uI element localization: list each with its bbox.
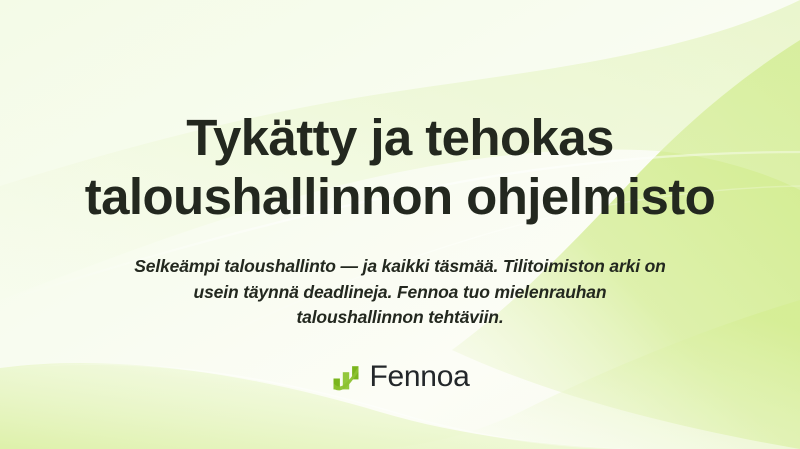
promo-slide: Tykätty ja tehokas taloushallinnon ohjel… [0, 0, 800, 449]
logo-lockup: Fennoa [0, 362, 800, 392]
subtitle-block: Selkeämpi taloushallinto — ja kaikki täs… [100, 254, 700, 331]
fennoa-bar-chart-check-icon [331, 362, 361, 392]
logo-wordmark: Fennoa [370, 362, 470, 392]
headline-block: Tykätty ja tehokas taloushallinnon ohjel… [0, 108, 800, 226]
subtitle-line-1: Selkeämpi taloushallinto — ja kaikki täs… [100, 254, 700, 280]
subtitle-line-3: taloushallinnon tehtäviin. [100, 305, 700, 331]
headline-line-1: Tykätty ja tehokas [0, 108, 800, 167]
headline-line-2: taloushallinnon ohjelmisto [0, 167, 800, 226]
subtitle-line-2: usein täynnä deadlineja. Fennoa tuo miel… [100, 280, 700, 306]
